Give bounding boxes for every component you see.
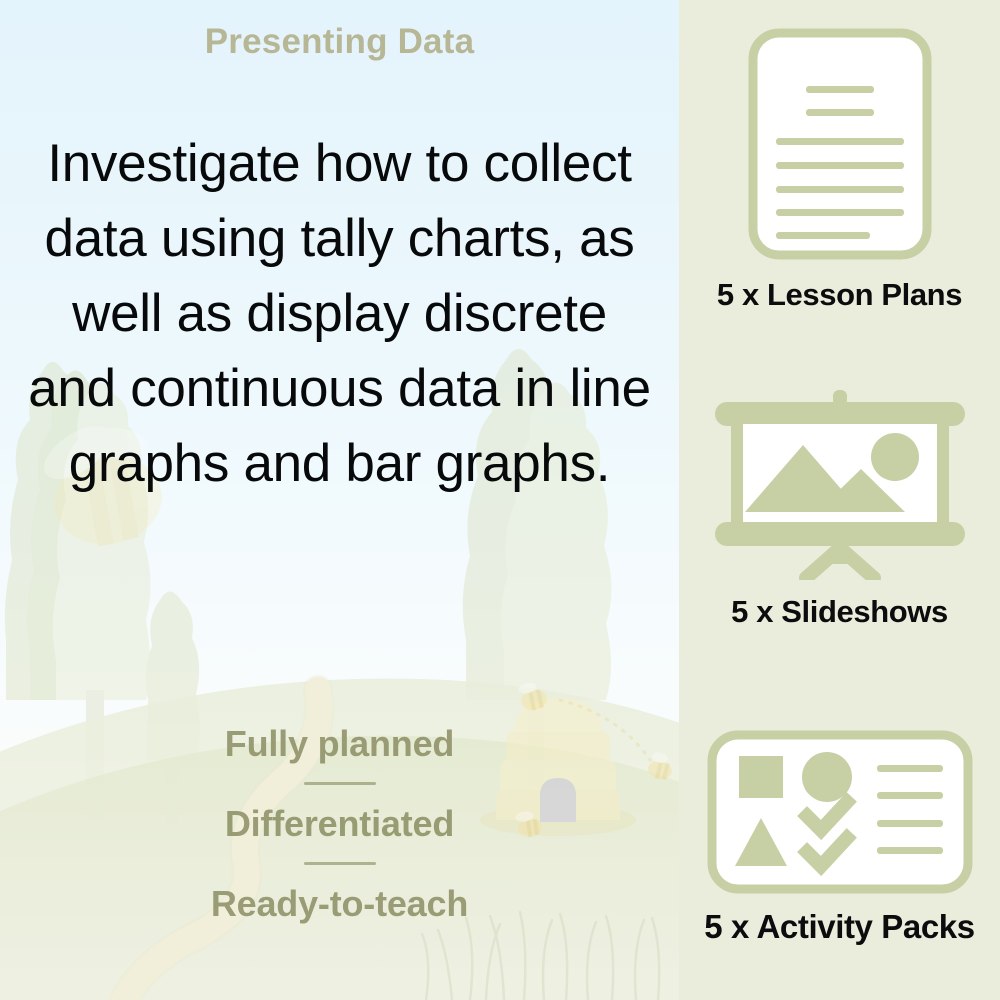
tagline-ready-to-teach: Ready-to-teach (0, 882, 679, 926)
document-lines-icon (748, 28, 932, 260)
left-content-panel: Presenting Data Investigate how to colle… (0, 0, 679, 1000)
tagline-differentiated: Differentiated (0, 802, 679, 846)
tagline-fully-planned: Fully planned (0, 722, 679, 766)
feature-activity-packs: 5 x Activity Packs (679, 730, 1000, 946)
poster-root: Presenting Data Investigate how to colle… (0, 0, 1000, 1000)
taglines-group: Fully planned Differentiated Ready-to-te… (0, 722, 679, 926)
tagline-divider (304, 782, 376, 785)
features-panel: 5 x Lesson Plans (679, 0, 1000, 1000)
page-title: Presenting Data (0, 22, 679, 62)
feature-slideshows: 5 x Slideshows (679, 390, 1000, 630)
activity-card-icon (707, 730, 973, 894)
feature-label-activity-packs: 5 x Activity Packs (679, 908, 1000, 946)
headline-text: Investigate how to collect data using ta… (28, 126, 651, 501)
feature-lesson-plans: 5 x Lesson Plans (679, 28, 1000, 313)
tagline-divider (304, 862, 376, 865)
projector-screen-icon (709, 390, 971, 580)
feature-label-lesson-plans: 5 x Lesson Plans (679, 277, 1000, 313)
feature-label-slideshows: 5 x Slideshows (679, 594, 1000, 630)
